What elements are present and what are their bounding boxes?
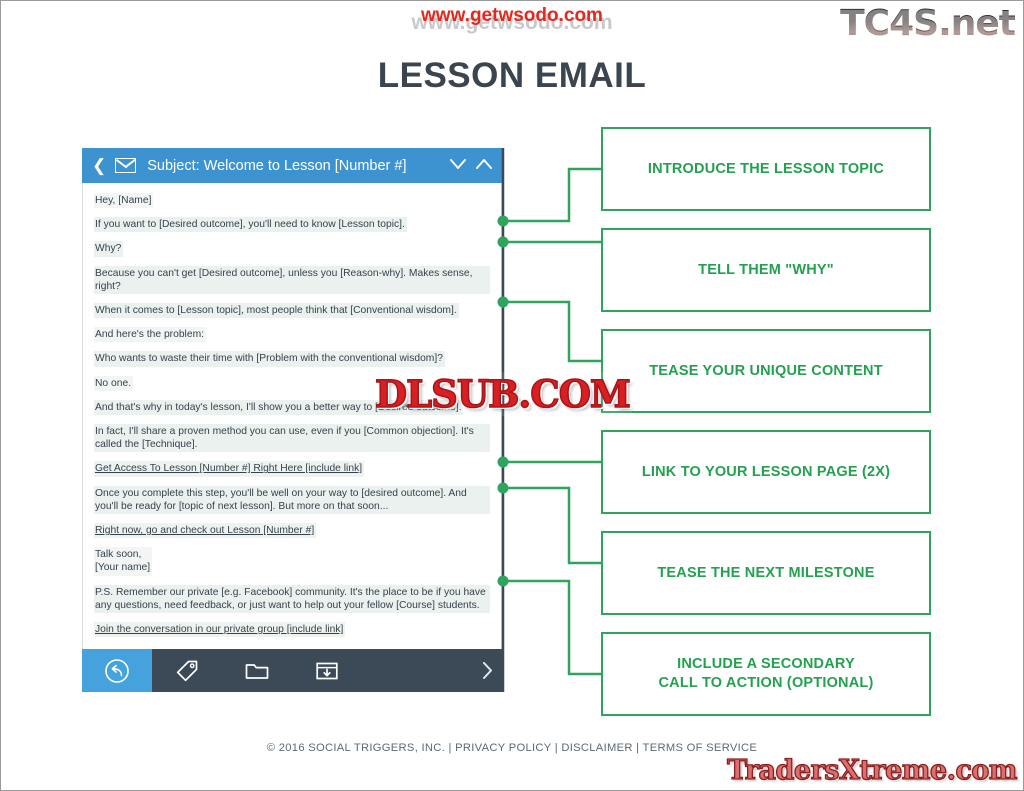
watermark-dlsub: DLSUB.COM	[373, 372, 632, 416]
callout-label-6a: INCLUDE A SECONDARY	[677, 656, 855, 672]
chevron-down-icon[interactable]	[450, 158, 466, 173]
email-body-paragraph: If you want to [Desired outcome], you'll…	[94, 217, 407, 232]
envelope-icon	[115, 158, 136, 173]
callout-box-2[interactable]: TELL THEM "WHY"	[601, 228, 931, 312]
email-body-paragraph: When it comes to [Lesson topic], most pe…	[94, 303, 459, 318]
toolbar-folder-button[interactable]	[222, 649, 292, 692]
callout-box-4[interactable]: LINK TO YOUR LESSON PAGE (2X)	[601, 430, 931, 514]
toolbar-tag-button[interactable]	[152, 649, 222, 692]
infographic-page: www.getwsodo.com www.getwsodo.com TC4S.n…	[0, 0, 1024, 791]
footer-copyright: © 2016 SOCIAL TRIGGERS, INC. | PRIVACY P…	[1, 742, 1023, 754]
email-body: Hey, [Name]If you want to [Desired outco…	[82, 183, 502, 649]
toolbar-next-button[interactable]	[472, 649, 502, 692]
toolbar-archive-button[interactable]	[292, 649, 362, 692]
email-body-paragraph: Why?	[94, 241, 123, 256]
email-body-paragraph: Hey, [Name]	[94, 193, 153, 208]
callout-label-1: INTRODUCE THE LESSON TOPIC	[648, 160, 884, 179]
email-body-paragraph: And here's the problem:	[94, 327, 206, 342]
email-toolbar	[82, 649, 502, 692]
tag-icon	[174, 658, 200, 684]
archive-download-icon	[314, 658, 340, 684]
callout-box-5[interactable]: TEASE THE NEXT MILESTONE	[601, 531, 931, 615]
page-title: LESSON EMAIL	[1, 56, 1023, 96]
chevron-left-icon[interactable]: ❮	[92, 157, 106, 174]
email-subject: Subject: Welcome to Lesson [Number #]	[147, 158, 440, 174]
watermark-tc4s-logo: TC4S.net	[840, 3, 1015, 44]
callout-box-1[interactable]: INTRODUCE THE LESSON TOPIC	[601, 127, 931, 211]
callout-label-4: LINK TO YOUR LESSON PAGE (2X)	[642, 463, 890, 482]
reply-icon	[104, 658, 130, 684]
chevron-up-icon[interactable]	[476, 158, 492, 173]
email-body-paragraph: P.S. Remember our private [e.g. Facebook…	[94, 585, 490, 613]
email-body-paragraph: Who wants to waste their time with [Prob…	[94, 351, 445, 366]
callout-label-6b: CALL TO ACTION (OPTIONAL)	[659, 675, 874, 691]
email-body-link[interactable]: Get Access To Lesson [Number #] Right He…	[94, 461, 364, 476]
email-header-bar: ❮ Subject: Welcome to Lesson [Number #]	[82, 148, 502, 183]
callout-box-6[interactable]: INCLUDE A SECONDARY CALL TO ACTION (OPTI…	[601, 632, 931, 716]
callout-label-2: TELL THEM "WHY"	[698, 261, 834, 280]
email-mockup: ❮ Subject: Welcome to Lesson [Number #] …	[82, 148, 502, 692]
callout-box-3[interactable]: TEASE YOUR UNIQUE CONTENT	[601, 329, 931, 413]
callout-label-5: TEASE THE NEXT MILESTONE	[657, 564, 874, 583]
email-body-paragraph: Once you complete this step, you'll be w…	[94, 486, 490, 514]
email-body-paragraph: No one.	[94, 376, 133, 391]
callout-label-3: TEASE YOUR UNIQUE CONTENT	[649, 362, 883, 381]
email-body-paragraph: Talk soon,[Your name]	[94, 547, 152, 575]
toolbar-reply-button[interactable]	[82, 649, 152, 692]
folder-icon	[244, 658, 270, 684]
watermark-tradersxtreme: TradersXtreme.com	[727, 755, 1017, 786]
email-body-link[interactable]: Right now, go and check out Lesson [Numb…	[94, 523, 316, 538]
email-body-paragraph: Because you can't get [Desired outcome],…	[94, 266, 490, 294]
email-body-paragraph: In fact, I'll share a proven method you …	[94, 424, 490, 452]
email-body-link[interactable]: Join the conversation in our private gro…	[94, 622, 345, 637]
